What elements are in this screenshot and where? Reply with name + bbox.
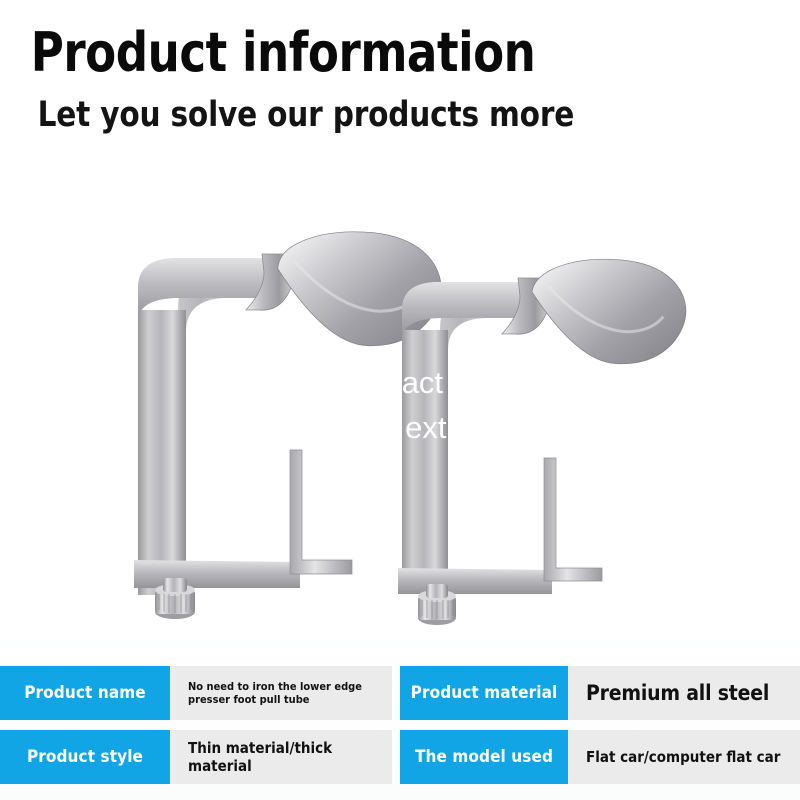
spec-value-model-used: Flat car/computer flat car <box>568 730 800 784</box>
page-header: Product information Let you solve our pr… <box>0 0 800 136</box>
product-information-page: Product information Let you solve our pr… <box>0 0 800 800</box>
table-row: Product name No need to iron the lower e… <box>0 666 800 720</box>
spec-label-product-name: Product name <box>0 666 170 720</box>
specification-table: Product name No need to iron the lower e… <box>0 666 800 794</box>
product-photo: SUPPORTED Click to contact shipping tran… <box>0 160 800 660</box>
column-gap <box>392 730 400 784</box>
spec-value-product-material: Premium all steel <box>568 666 800 720</box>
table-row: Product style Thin material/thick materi… <box>0 730 800 784</box>
page-subtitle: Let you solve our products more <box>0 84 752 136</box>
page-title: Product information <box>0 22 744 84</box>
spec-group-product-material: Product material Premium all steel <box>400 666 800 720</box>
spec-label-product-style: Product style <box>0 730 170 784</box>
spec-label-product-material: Product material <box>400 666 568 720</box>
clamp-left <box>134 218 449 619</box>
product-illustration <box>0 160 800 660</box>
clamp-right <box>398 246 693 625</box>
spec-group-model-used: The model used Flat car/computer flat ca… <box>400 730 800 784</box>
spec-value-product-style: Thin material/thick material <box>170 730 392 784</box>
column-gap <box>392 666 400 720</box>
spec-value-product-name: No need to iron the lower edge presser f… <box>170 666 392 720</box>
spec-group-product-name: Product name No need to iron the lower e… <box>0 666 392 720</box>
spec-label-model-used: The model used <box>400 730 568 784</box>
spec-group-product-style: Product style Thin material/thick materi… <box>0 730 392 784</box>
